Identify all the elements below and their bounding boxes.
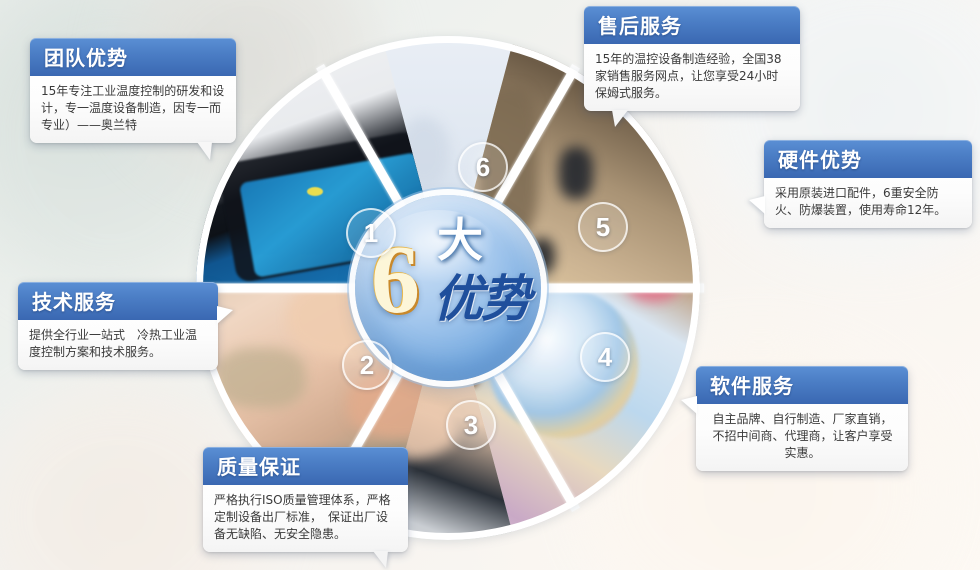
- segment-number-1-label: 1: [364, 218, 378, 249]
- callout-quality-body: 严格执行ISO质量管理体系，严格定制设备出厂标准， 保证出厂设备无缺陷、无安全隐…: [203, 485, 408, 552]
- callout-software-body: 自主品牌、自行制造、厂家直销，不招中间商、代理商，让客户享受实惠。: [696, 404, 908, 471]
- infographic-canvas: 6 大 优势 1 2 3 4 5 6 团队优势 15年专注工业温度控制的研发和设…: [0, 0, 980, 570]
- callout-technical-title: 技术服务: [18, 282, 218, 320]
- callout-team-tail: [197, 142, 212, 160]
- callout-software-tail: [681, 396, 697, 414]
- callout-team-title: 团队优势: [30, 38, 236, 76]
- callout-quality-title: 质量保证: [203, 447, 408, 485]
- callout-team-body: 15年专注工业温度控制的研发和设计，专一温度设备制造，因专一而专业）——奥兰特: [30, 76, 236, 143]
- callout-quality-tail: [373, 551, 388, 568]
- callout-after-sales-body: 15年的温控设备制造经验，全国38家销售服务网点，让您享受24小时保姆式服务。: [584, 44, 800, 111]
- segment-number-2-label: 2: [360, 350, 374, 381]
- callout-after-sales[interactable]: 售后服务 15年的温控设备制造经验，全国38家销售服务网点，让您享受24小时保姆…: [584, 6, 800, 111]
- center-subtitle: 优势: [433, 273, 529, 325]
- segment-number-5[interactable]: 5: [578, 202, 628, 252]
- callout-technical-service[interactable]: 技术服务 提供全行业一站式 冷热工业温度控制方案和技术服务。: [18, 282, 218, 370]
- segment-number-1[interactable]: 1: [346, 208, 396, 258]
- segment-number-4[interactable]: 4: [580, 332, 630, 382]
- callout-hardware-advantage[interactable]: 硬件优势 采用原装进口配件，6重安全防火、防爆装置，使用寿命12年。: [764, 140, 972, 228]
- callout-technical-tail: [217, 306, 233, 324]
- callout-after-sales-title: 售后服务: [584, 6, 800, 44]
- segment-number-5-label: 5: [596, 212, 610, 243]
- callout-hardware-tail: [749, 196, 765, 214]
- callout-team-advantage[interactable]: 团队优势 15年专注工业温度控制的研发和设计，专一温度设备制造，因专一而专业）—…: [30, 38, 236, 143]
- segment-number-6-label: 6: [476, 152, 490, 183]
- segment-number-6[interactable]: 6: [458, 142, 508, 192]
- segment-number-4-label: 4: [598, 342, 612, 373]
- callout-software-service[interactable]: 软件服务 自主品牌、自行制造、厂家直销，不招中间商、代理商，让客户享受实惠。: [696, 366, 908, 471]
- callout-hardware-title: 硬件优势: [764, 140, 972, 178]
- center-big-char: 大: [437, 217, 483, 263]
- segment-number-3-label: 3: [464, 410, 478, 441]
- callout-quality-assurance[interactable]: 质量保证 严格执行ISO质量管理体系，严格定制设备出厂标准， 保证出厂设备无缺陷…: [203, 447, 408, 552]
- callout-technical-body: 提供全行业一站式 冷热工业温度控制方案和技术服务。: [18, 320, 218, 370]
- callout-after-sales-tail: [612, 110, 628, 127]
- callout-software-title: 软件服务: [696, 366, 908, 404]
- segment-number-3[interactable]: 3: [446, 400, 496, 450]
- segment-number-2[interactable]: 2: [342, 340, 392, 390]
- callout-hardware-body: 采用原装进口配件，6重安全防火、防爆装置，使用寿命12年。: [764, 178, 972, 228]
